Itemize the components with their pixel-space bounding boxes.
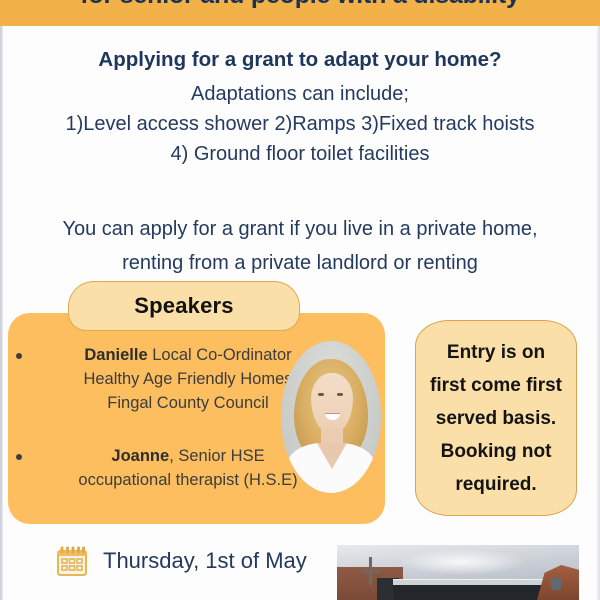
venue-building-photo [337,545,579,600]
speaker-name: Danielle [84,346,147,364]
bullet-icon [16,454,22,460]
intro-line-2: 1)Level access shower 2)Ramps 3)Fixed tr… [6,109,594,139]
entry-line-1: Entry is on [447,336,545,369]
photo-canopy [393,585,543,600]
event-date-row: Thursday, 1st of May [55,545,307,577]
photo-right-window [551,578,561,590]
portrait-eye-right [337,393,343,396]
intro-line-1: Adaptations can include; [6,79,594,109]
header-banner: for senior and people with a disability [0,0,600,26]
speakers-tab: Speakers [68,281,300,331]
entry-line-5: required. [455,468,536,501]
entry-notice-box: Entry is on first come first served basi… [415,320,577,516]
photo-pole-arm [362,570,379,573]
entry-line-3: served basis. [436,402,556,435]
poster-page: for senior and people with a disability … [0,0,600,600]
speaker-role: Local Co-Ordinator [148,346,292,364]
speaker-name: Joanne [111,447,169,465]
eligibility-block: You can apply for a grant if you live in… [6,212,594,280]
intro-line-3: 4) Ground floor toilet facilities [6,139,594,169]
bullet-icon [16,353,22,359]
calendar-icon [55,545,89,577]
intro-heading: Applying for a grant to adapt your home? [6,46,594,74]
event-date-text: Thursday, 1st of May [103,546,307,576]
banner-headline: for senior and people with a disability [0,0,600,10]
entry-line-4: Booking not [441,435,552,468]
entry-line-2: first come first [430,369,562,402]
speaker-role: , Senior HSE [169,447,264,465]
eligibility-line-1: You can apply for a grant if you live in… [6,212,594,246]
speakers-tab-label: Speakers [134,293,233,319]
portrait-eye-left [318,393,324,396]
photo-cloud [397,549,527,575]
eligibility-line-2: renting from a private landlord or renti… [6,246,594,280]
intro-block: Applying for a grant to adapt your home?… [6,46,594,169]
speaker-portrait-photo [281,341,381,493]
